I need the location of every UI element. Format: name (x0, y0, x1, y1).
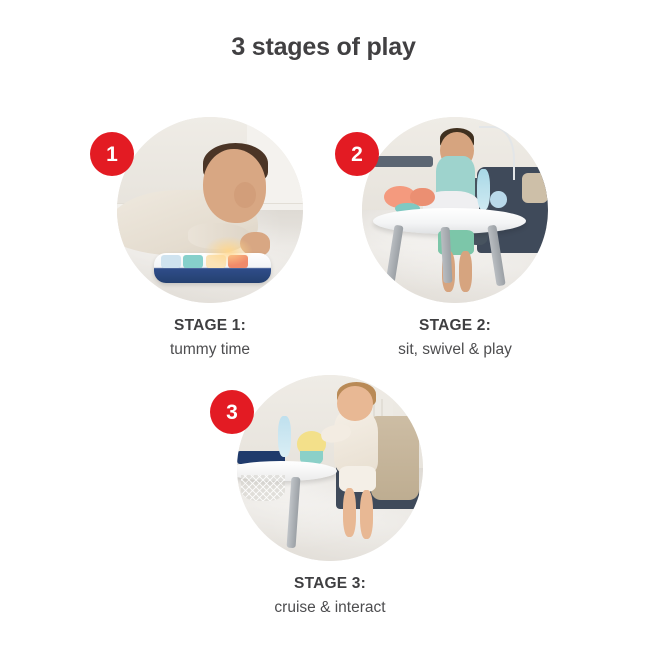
shelf (373, 156, 433, 167)
stage-2-caption: STAGE 2: sit, swivel & play (335, 317, 575, 359)
stage-3-photo-wrap: 3 (210, 375, 450, 561)
stage-3-photo (237, 375, 423, 561)
baby-leg-right (459, 251, 472, 292)
scene-cruise-interact (237, 375, 423, 561)
stage-card-3: 3 STAGE 3: cruise & interact (210, 375, 450, 617)
stacking-toy (477, 169, 490, 210)
stage-1-badge: 1 (90, 132, 134, 176)
stage-2-subtitle: sit, swivel & play (335, 341, 575, 359)
blanket (371, 416, 419, 500)
stage-card-2: 2 STAGE 2: sit, swivel & play (335, 117, 575, 359)
page-title: 3 stages of play (0, 33, 647, 62)
baby-head (203, 149, 266, 223)
stage-2-photo (362, 117, 548, 303)
stage-1-photo-wrap: 1 (90, 117, 330, 303)
scene-sit-swivel-play (362, 117, 548, 303)
toddler-leg-right (360, 490, 373, 538)
stage-2-title: STAGE 2: (335, 317, 575, 335)
sofa-pillow (522, 173, 548, 203)
piano-key-1 (161, 255, 181, 267)
stage-1-title: STAGE 1: (90, 317, 330, 335)
stage-1-subtitle: tummy time (90, 341, 330, 359)
toddler-diaper (339, 466, 376, 492)
stage-2-photo-wrap: 2 (335, 117, 575, 303)
three-stages-of-play-infographic: 3 stages of play (0, 0, 647, 647)
stage-3-caption: STAGE 3: cruise & interact (210, 575, 450, 617)
scene-tummy-time (117, 117, 303, 303)
stage-1-photo (117, 117, 303, 303)
stacking-toy (278, 416, 291, 457)
stage-3-badge: 3 (210, 390, 254, 434)
stage-1-caption: STAGE 1: tummy time (90, 317, 330, 359)
stage-3-subtitle: cruise & interact (210, 599, 450, 617)
storage-net (241, 475, 286, 501)
stage-3-title: STAGE 3: (210, 575, 450, 593)
stage-card-1: 1 STAGE 1: tummy time (90, 117, 330, 359)
toy-light-glow (204, 236, 252, 266)
toddler-leg-left (343, 488, 356, 536)
piano-key-2 (183, 255, 203, 267)
toddler-head (337, 386, 372, 421)
stage-2-badge: 2 (335, 132, 379, 176)
